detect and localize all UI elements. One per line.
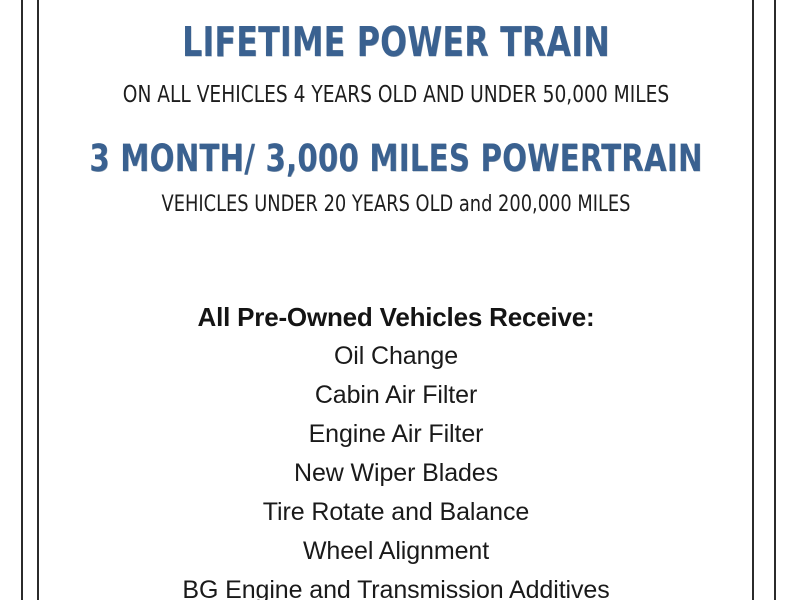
service-item: New Wiper Blades	[40, 454, 752, 493]
three-month-powertrain-subtitle: VEHICLES UNDER 20 YEARS OLD and 200,000 …	[76, 194, 717, 216]
service-item: BG Engine and Transmission Additives	[40, 571, 752, 600]
frame-rule-right-outer	[774, 0, 776, 600]
frame-rule-right-inner	[752, 0, 754, 600]
services-list-block: All Pre-Owned Vehicles Receive: Oil Chan…	[40, 298, 752, 600]
lifetime-powertrain-headline: LIFETIME POWER TRAIN	[90, 22, 702, 63]
service-item: Tire Rotate and Balance	[40, 493, 752, 532]
frame-rule-left-outer	[21, 0, 23, 600]
three-month-powertrain-headline: 3 MONTH/ 3,000 MILES POWERTRAIN	[83, 140, 710, 177]
content-column: LIFETIME POWER TRAIN ON ALL VEHICLES 4 Y…	[40, 0, 752, 600]
flyer-page: LIFETIME POWER TRAIN ON ALL VEHICLES 4 Y…	[0, 0, 800, 600]
service-item: Wheel Alignment	[40, 532, 752, 571]
service-item: Oil Change	[40, 337, 752, 376]
services-list-title: All Pre-Owned Vehicles Receive:	[40, 298, 752, 337]
lifetime-powertrain-subtitle: ON ALL VEHICLES 4 YEARS OLD AND UNDER 50…	[76, 84, 717, 107]
service-item: Cabin Air Filter	[40, 376, 752, 415]
frame-rule-left-inner	[37, 0, 39, 600]
service-item: Engine Air Filter	[40, 415, 752, 454]
